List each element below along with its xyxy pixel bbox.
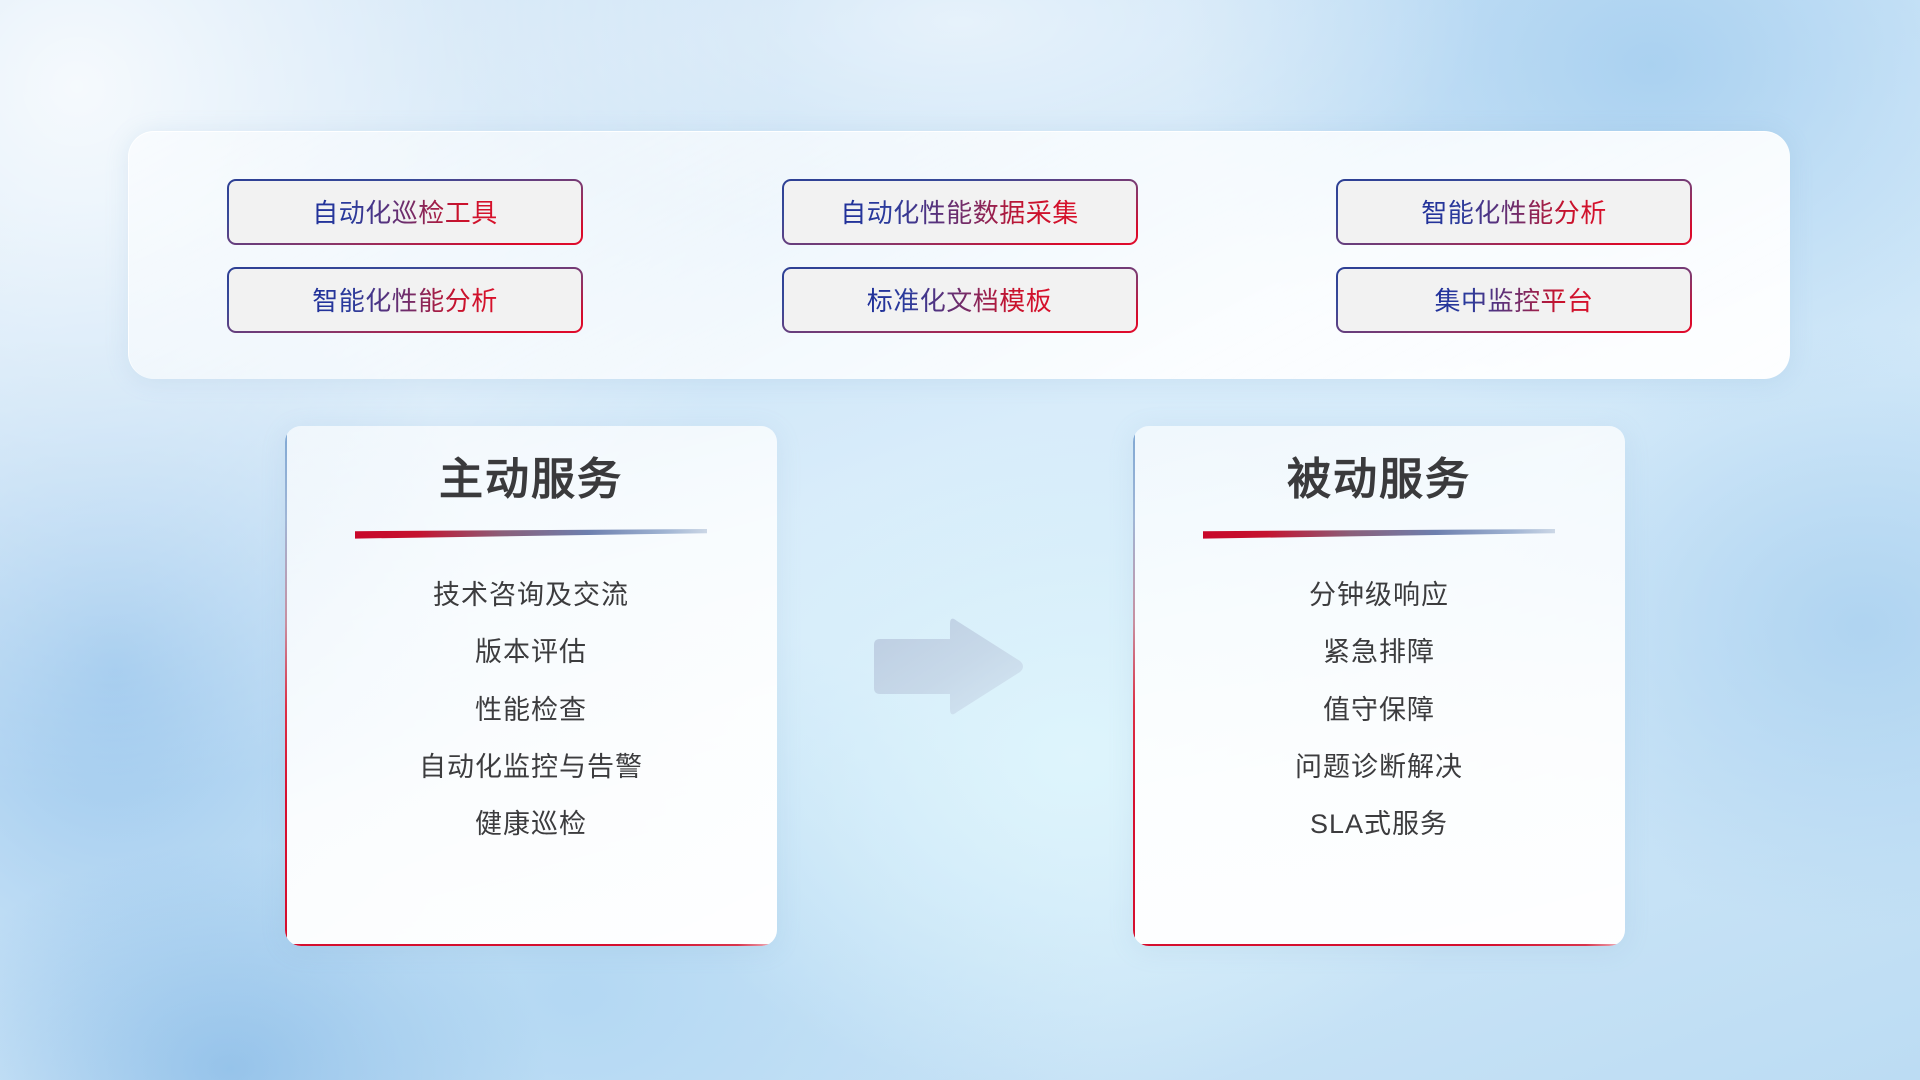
slide-canvas: 自动化巡检工具 自动化性能数据采集 智能化性能分析 智能化性能分析 标准化文档模…: [0, 0, 1920, 1080]
card-title: 主动服务: [285, 454, 777, 507]
list-item: 自动化监控与告警: [419, 751, 643, 783]
list-item: 分钟级响应: [1309, 579, 1449, 611]
card-title-divider: [355, 529, 707, 541]
capability-pill-intelligent-performance-analysis-2[interactable]: 智能化性能分析: [227, 267, 583, 333]
service-card-reactive: 被动服务 分钟级响应 紧急排障 值守保障: [1133, 426, 1625, 946]
card-left-accent-stroke: [1133, 426, 1135, 946]
capability-pill-label: 自动化巡检工具: [312, 193, 498, 230]
service-item-list: 分钟级响应 紧急排障 值守保障 问题诊断解决 SLA式服务: [1133, 579, 1625, 841]
list-item: 问题诊断解决: [1295, 751, 1463, 783]
card-title: 被动服务: [1133, 454, 1625, 507]
capability-pill-label: 自动化性能数据采集: [840, 193, 1079, 230]
service-item-list: 技术咨询及交流 版本评估 性能检查 自动化监控与告警 健康巡检: [285, 579, 777, 841]
capability-pill-label: 智能化性能分析: [312, 281, 498, 318]
list-item: SLA式服务: [1310, 808, 1448, 840]
list-item: 紧急排障: [1323, 636, 1435, 668]
capability-pill-standard-doc-template[interactable]: 标准化文档模板: [782, 267, 1138, 333]
list-item: 版本评估: [475, 636, 587, 668]
capability-pill-automated-inspection-tool[interactable]: 自动化巡检工具: [227, 179, 583, 245]
capability-pill-centralized-monitoring-platform[interactable]: 集中监控平台: [1336, 267, 1692, 333]
capability-row-2: 智能化性能分析 标准化文档模板 集中监控平台: [129, 267, 1790, 333]
card-bottom-accent-stroke: [285, 944, 777, 946]
capability-row-1: 自动化巡检工具 自动化性能数据采集 智能化性能分析: [129, 179, 1790, 245]
card-title-divider: [1203, 529, 1555, 541]
card-left-accent-stroke: [285, 426, 287, 946]
list-item: 性能检查: [475, 694, 587, 726]
right-arrow-icon: [868, 613, 1028, 723]
list-item: 技术咨询及交流: [433, 579, 629, 611]
capability-pill-label: 智能化性能分析: [1421, 193, 1607, 230]
list-item: 值守保障: [1323, 694, 1435, 726]
service-card-proactive: 主动服务 技术咨询及交流 版本评估 性能检查: [285, 426, 777, 946]
card-bottom-accent-stroke: [1133, 944, 1625, 946]
capability-pill-automated-performance-collection[interactable]: 自动化性能数据采集: [782, 179, 1138, 245]
capability-pill-label: 集中监控平台: [1434, 281, 1593, 318]
list-item: 健康巡检: [475, 808, 587, 840]
capability-pill-intelligent-performance-analysis[interactable]: 智能化性能分析: [1336, 179, 1692, 245]
capability-pill-label: 标准化文档模板: [867, 281, 1053, 318]
capability-panel: 自动化巡检工具 自动化性能数据采集 智能化性能分析 智能化性能分析 标准化文档模…: [128, 131, 1790, 379]
